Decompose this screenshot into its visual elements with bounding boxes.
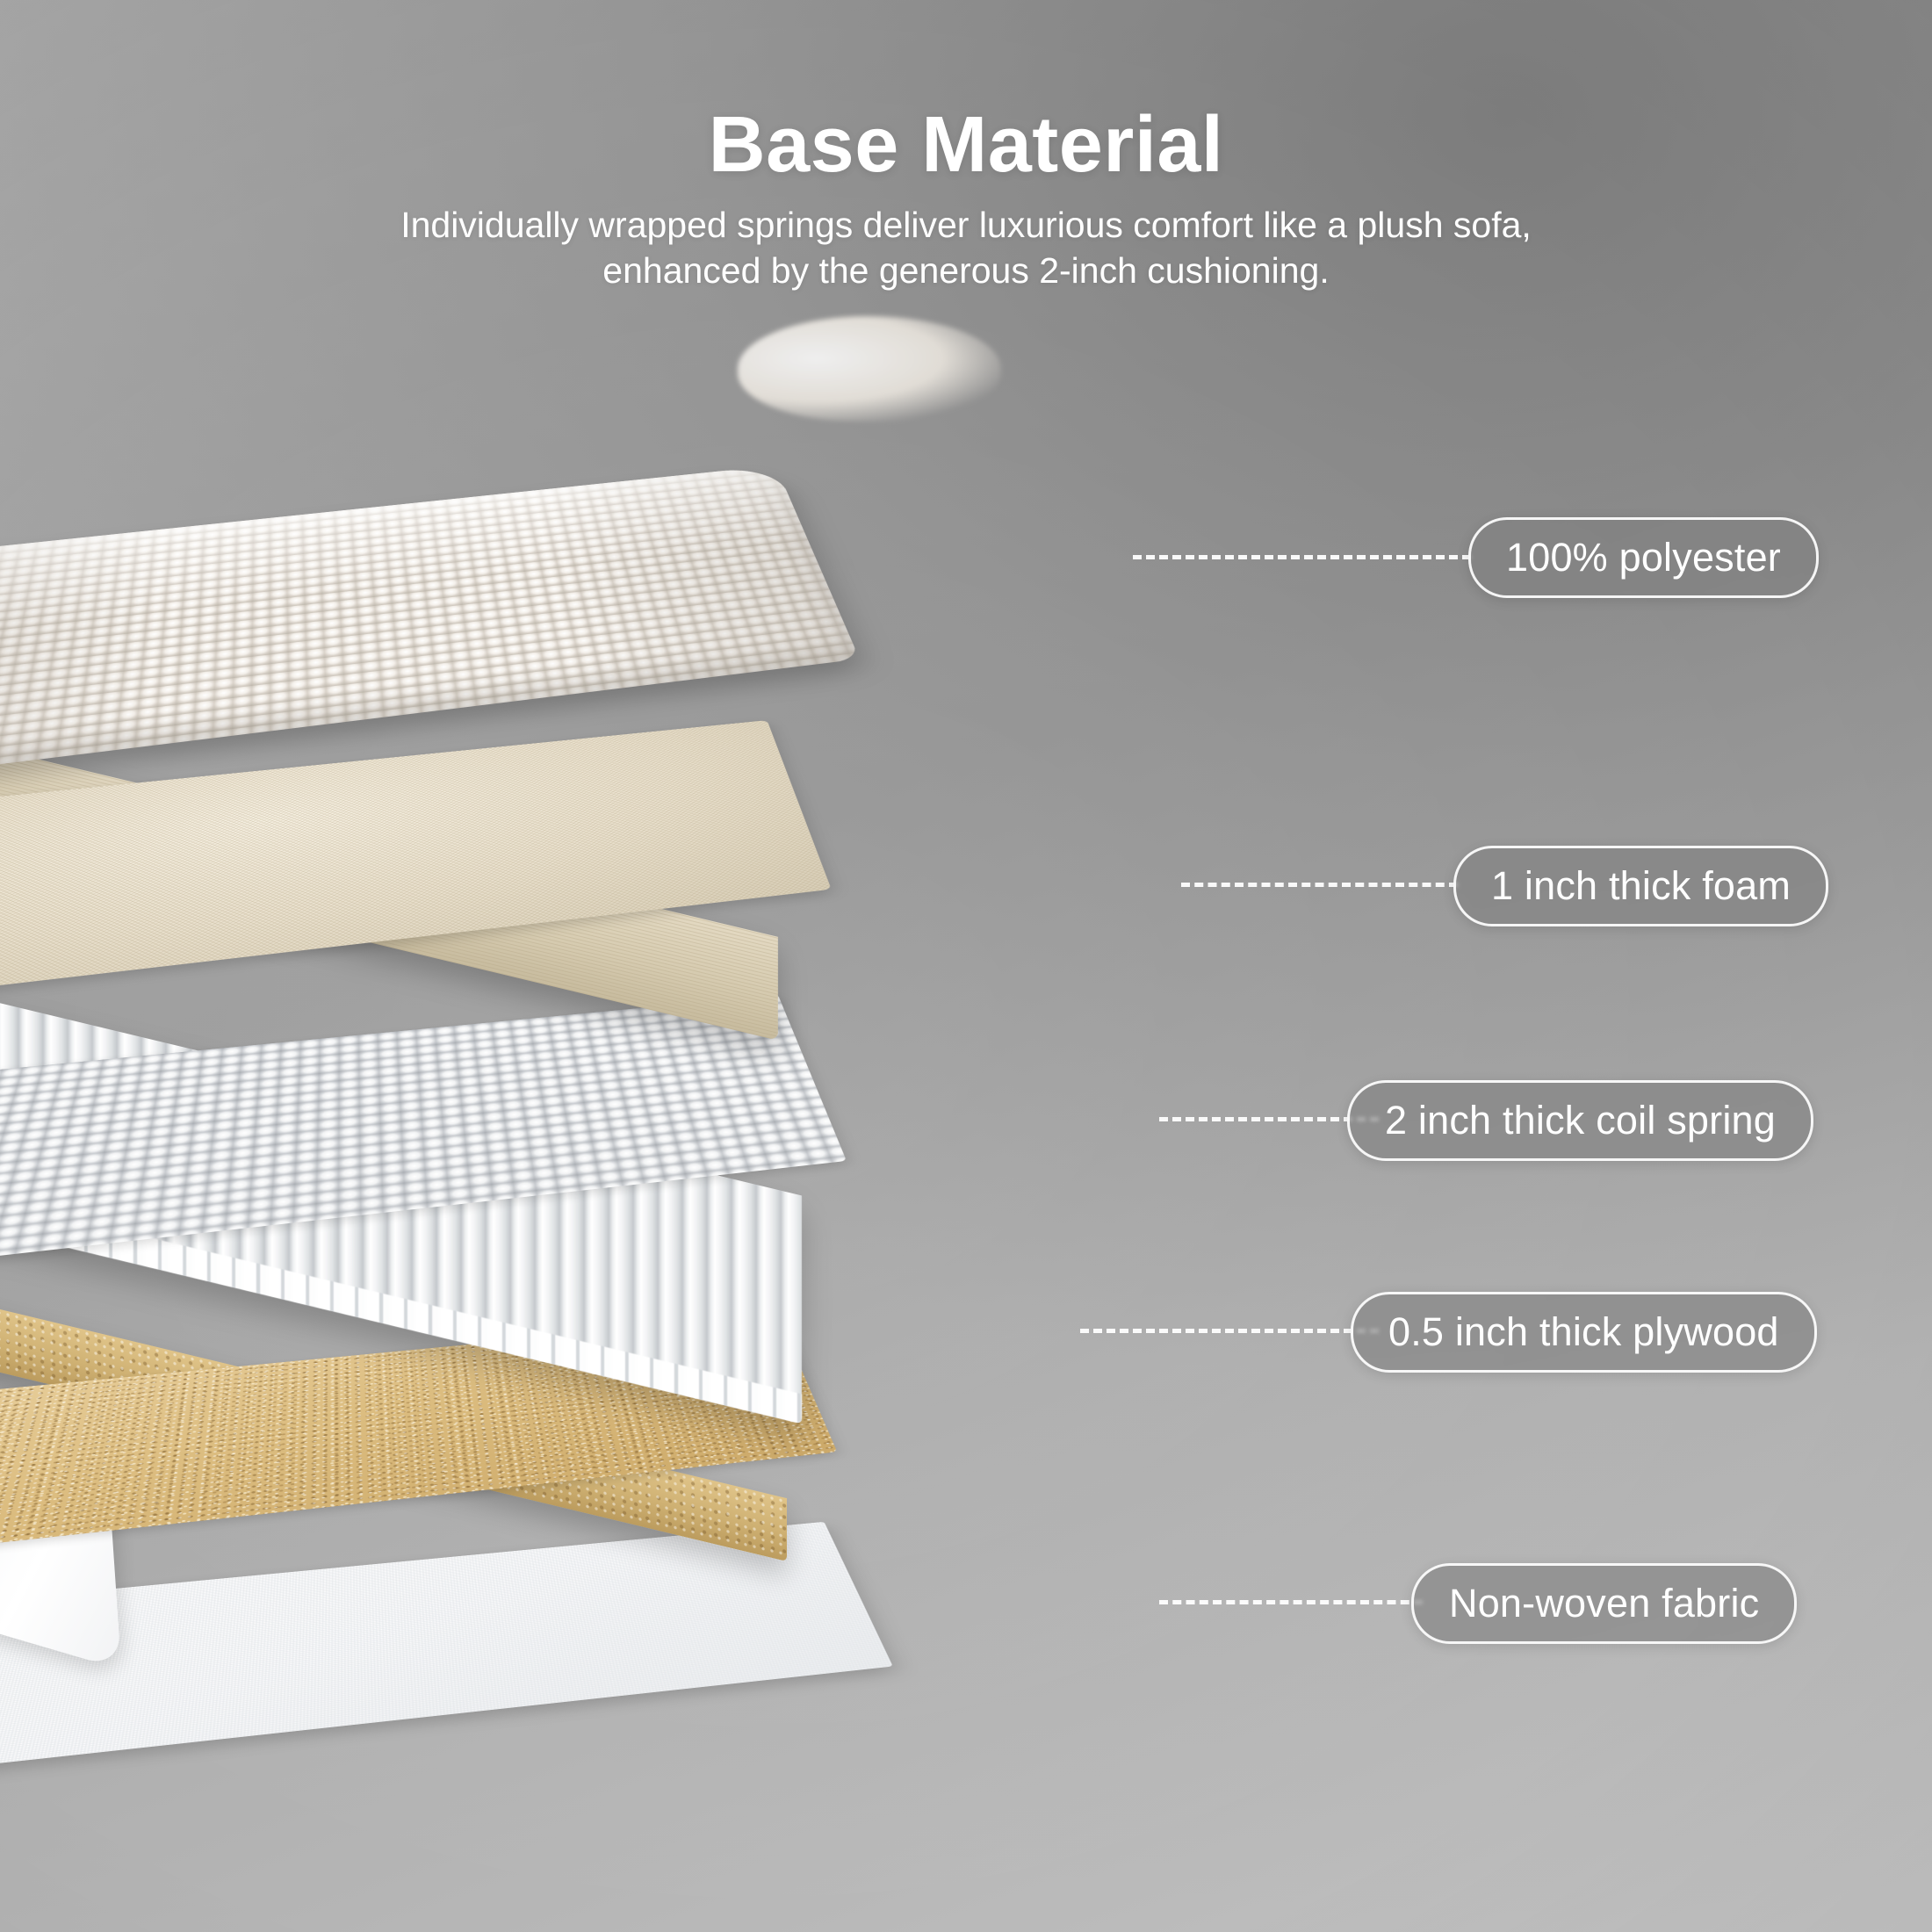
label-pill-coil-spring[interactable]: 2 inch thick coil spring (1347, 1080, 1813, 1161)
label-pill-coil-spring-text: 2 inch thick coil spring (1385, 1098, 1776, 1143)
polyester-mesh-highlight (738, 316, 1001, 422)
header: Base Material Individually wrapped sprin… (0, 105, 1932, 294)
label-pill-plywood[interactable]: 0.5 inch thick plywood (1351, 1292, 1817, 1373)
page-subtitle: Individually wrapped springs deliver lux… (307, 202, 1625, 294)
label-pill-plywood-text: 0.5 inch thick plywood (1388, 1309, 1779, 1355)
leader-line-foam (1181, 883, 1458, 887)
leader-line-nonwoven (1159, 1600, 1423, 1604)
label-pill-nonwoven-text: Non-woven fabric (1449, 1581, 1759, 1626)
leader-line-plywood (1080, 1329, 1379, 1333)
label-pill-foam-text: 1 inch thick foam (1491, 863, 1791, 909)
page-subtitle-line-2: enhanced by the generous 2-inch cushioni… (307, 248, 1625, 293)
page-subtitle-line-1: Individually wrapped springs deliver lux… (307, 202, 1625, 248)
exploded-layer-stack (0, 263, 1124, 1669)
label-pill-foam[interactable]: 1 inch thick foam (1453, 846, 1828, 926)
leader-line-coil-spring (1159, 1117, 1379, 1121)
page-title: Base Material (0, 105, 1932, 186)
infographic-canvas: Base Material Individually wrapped sprin… (0, 0, 1932, 1932)
leader-line-polyester (1133, 555, 1471, 559)
label-pill-polyester[interactable]: 100% polyester (1468, 517, 1819, 598)
label-pill-nonwoven[interactable]: Non-woven fabric (1411, 1563, 1797, 1644)
label-pill-polyester-text: 100% polyester (1506, 535, 1781, 580)
